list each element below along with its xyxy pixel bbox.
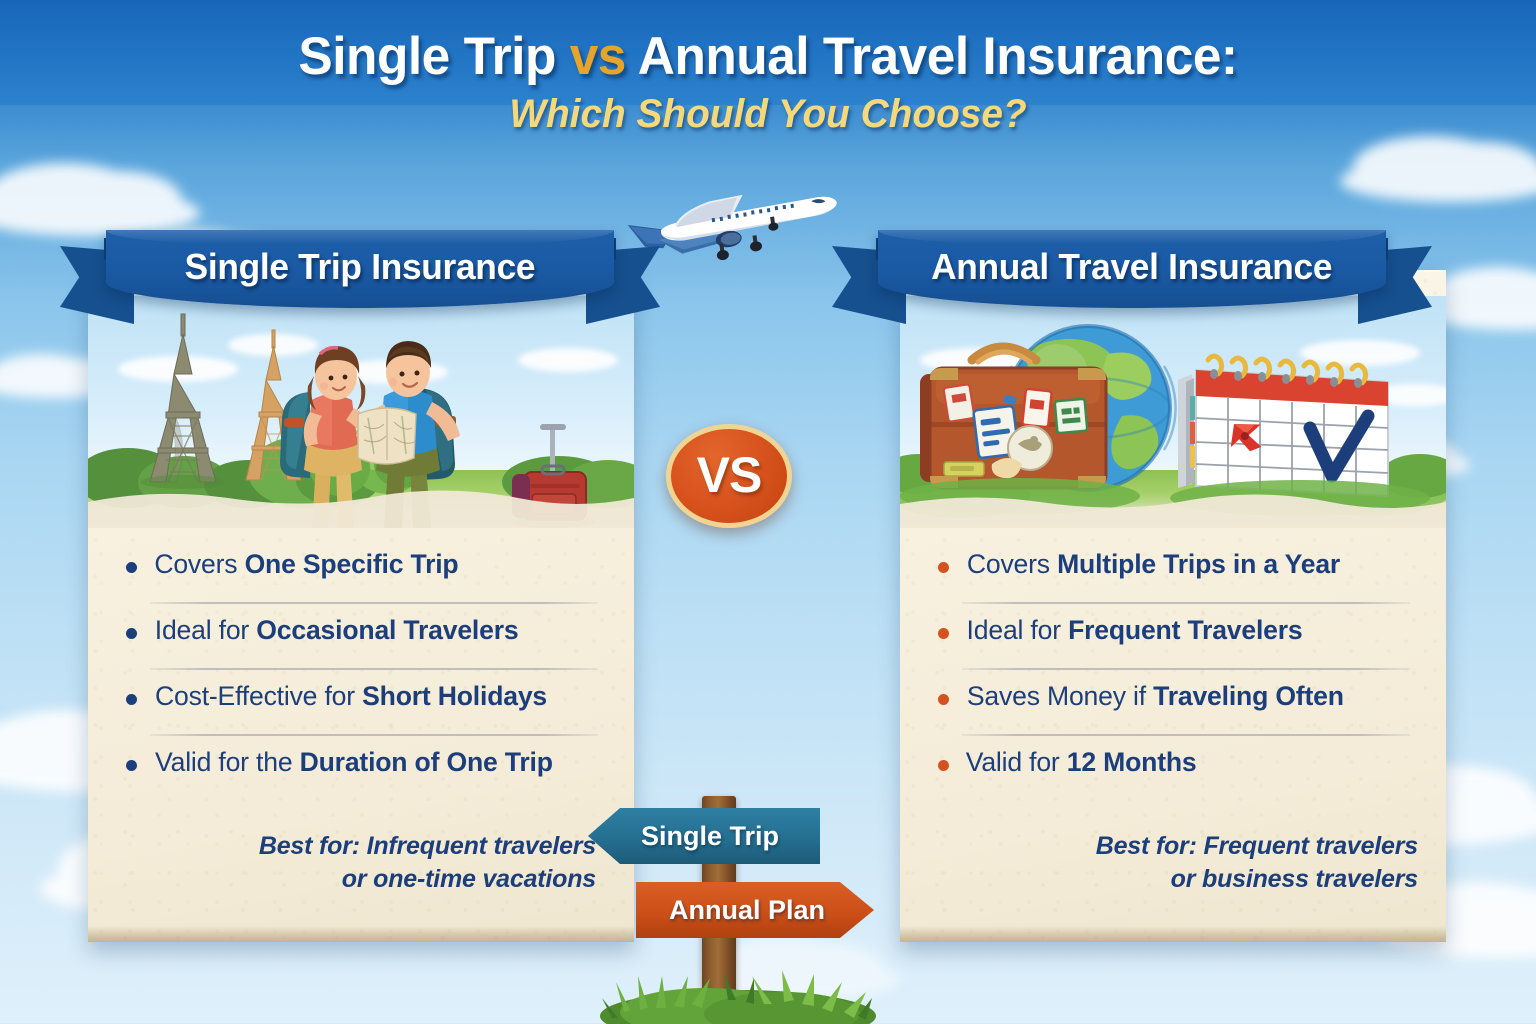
title-text-part2: Annual Travel Insurance: — [626, 27, 1238, 86]
signpost-annual-plan-sign[interactable]: Annual Plan — [636, 882, 874, 938]
grass-tuft — [596, 950, 880, 1024]
single-trip-best-for: Best for: Infrequent travelers or one-ti… — [116, 830, 610, 896]
list-item: Valid for 12 Months — [936, 736, 1420, 800]
bullet-dot-icon — [938, 694, 949, 705]
signpost: Single Trip Annual Plan — [588, 786, 888, 1024]
single-trip-illustration — [88, 296, 634, 528]
bullet-dot-icon — [126, 628, 137, 639]
list-item: Valid for the Duration of One Trip — [124, 736, 608, 800]
single-trip-feature-list: Covers One Specific Trip Ideal for Occas… — [124, 538, 608, 800]
page-title: Single Trip vs Annual Travel Insurance: — [23, 0, 1513, 83]
best-for-line-2: or one-time vacations — [116, 863, 596, 896]
list-item: Saves Money if Traveling Often — [936, 670, 1420, 734]
card-bottom-edge — [900, 926, 1446, 942]
vs-badge-label: VS — [697, 446, 762, 504]
list-item: Ideal for Occasional Travelers — [124, 604, 608, 668]
bullet-dot-icon — [126, 694, 137, 705]
list-item-text: Saves Money if Traveling Often — [967, 681, 1344, 712]
annual-travel-best-for: Best for: Frequent travelers or business… — [928, 830, 1422, 896]
ribbon-body: Annual Travel Insurance — [878, 230, 1386, 308]
annual-travel-illustration — [900, 296, 1446, 528]
single-trip-banner: Single Trip Insurance — [60, 230, 660, 318]
list-item: Cost-Effective for Short Holidays — [124, 670, 608, 734]
best-for-line-1: Best for: Infrequent travelers — [116, 830, 596, 863]
list-item: Covers One Specific Trip — [124, 538, 608, 602]
list-item: Ideal for Frequent Travelers — [936, 604, 1420, 668]
card-bottom-edge — [88, 926, 634, 942]
bullet-dot-icon — [126, 562, 137, 573]
annual-travel-banner: Annual Travel Insurance — [832, 230, 1432, 318]
list-item-text: Covers Multiple Trips in a Year — [967, 549, 1340, 580]
title-text-part1: Single Trip — [298, 27, 569, 86]
page-title-block: Single Trip vs Annual Travel Insurance: … — [0, 0, 1536, 137]
best-for-line-2: or business travelers — [928, 863, 1418, 896]
list-item-text: Cost-Effective for Short Holidays — [155, 681, 547, 712]
vs-badge: VS — [666, 424, 792, 528]
annual-travel-feature-list: Covers Multiple Trips in a Year Ideal fo… — [936, 538, 1420, 800]
cloud-icon — [1340, 160, 1536, 202]
ribbon-body: Single Trip Insurance — [106, 230, 614, 308]
best-for-line-1: Best for: Frequent travelers — [928, 830, 1418, 863]
signpost-annual-plan-label: Annual Plan — [636, 895, 874, 926]
signpost-single-trip-sign[interactable]: Single Trip — [588, 808, 820, 864]
list-item-text: Covers One Specific Trip — [154, 549, 458, 580]
bullet-dot-icon — [126, 760, 137, 771]
bullet-dot-icon — [938, 562, 949, 573]
signpost-single-trip-label: Single Trip — [588, 821, 820, 852]
list-item: Covers Multiple Trips in a Year — [936, 538, 1420, 602]
list-item-text: Ideal for Occasional Travelers — [155, 615, 519, 646]
single-trip-banner-label: Single Trip Insurance — [185, 246, 536, 292]
single-trip-card: Covers One Specific Trip Ideal for Occas… — [88, 270, 634, 942]
annual-travel-banner-label: Annual Travel Insurance — [931, 246, 1332, 292]
bullet-dot-icon — [938, 628, 949, 639]
annual-travel-card: Covers Multiple Trips in a Year Ideal fo… — [900, 270, 1446, 942]
bullet-dot-icon — [938, 760, 949, 771]
list-item-text: Valid for the Duration of One Trip — [155, 747, 553, 778]
list-item-text: Valid for 12 Months — [966, 747, 1197, 778]
list-item-text: Ideal for Frequent Travelers — [967, 615, 1303, 646]
page-subtitle: Which Should You Choose? — [23, 92, 1513, 137]
title-vs-word: vs — [570, 27, 626, 86]
